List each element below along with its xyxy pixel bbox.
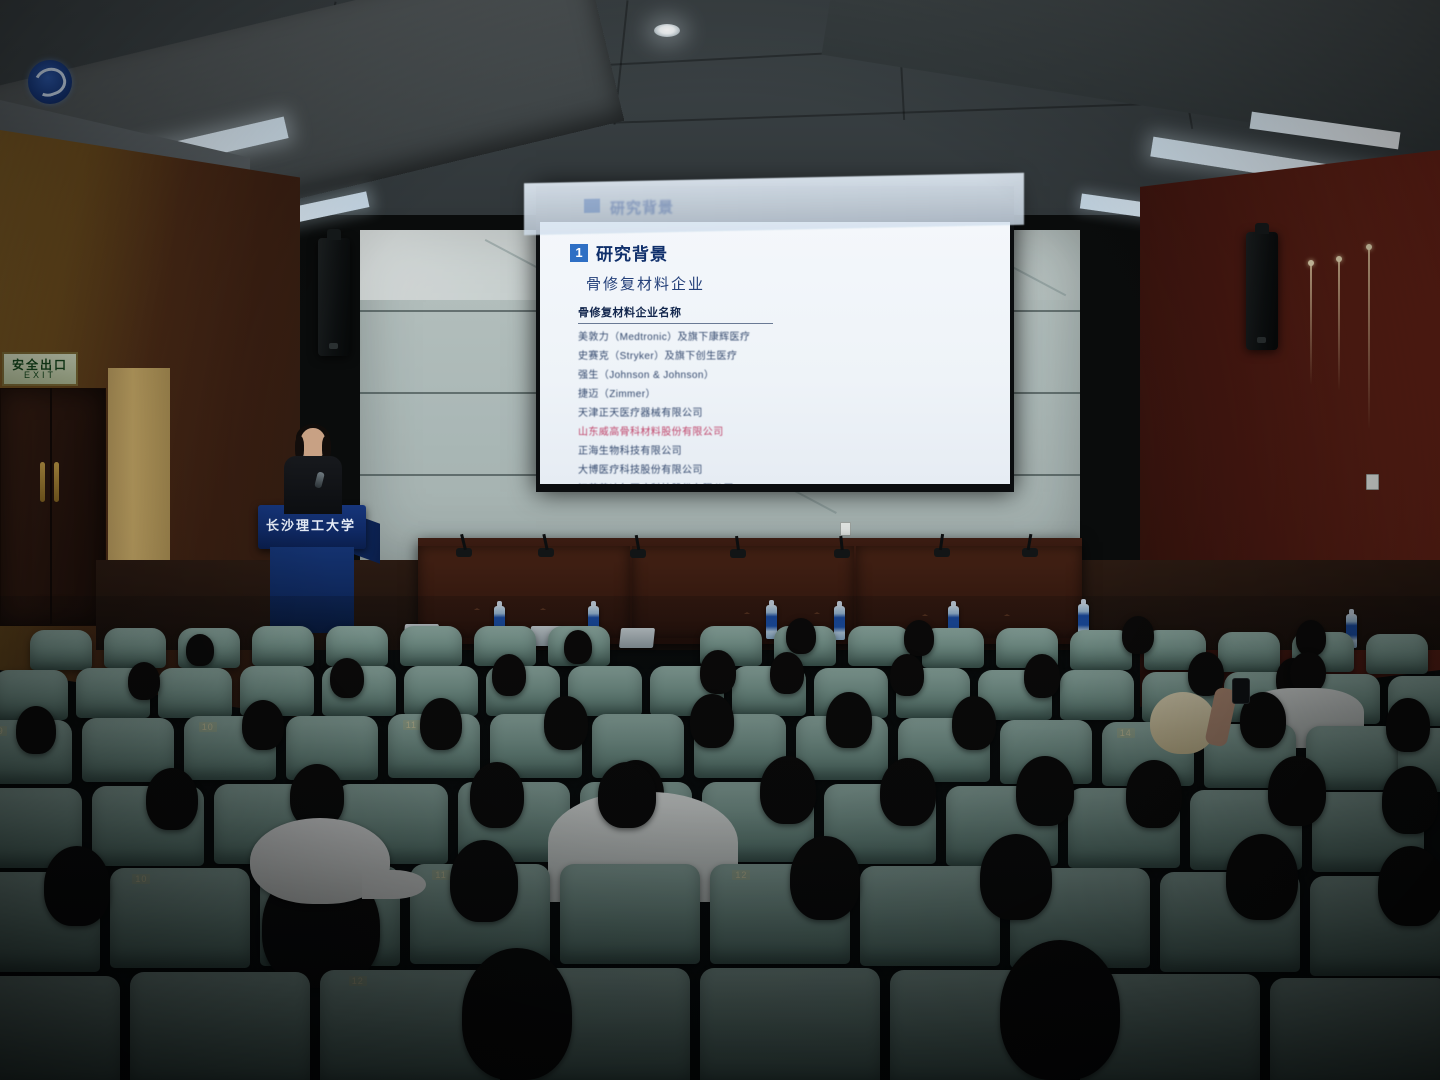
table-row: 强生（Johnson & Johnson） xyxy=(578,362,773,381)
seat[interactable]: 10 xyxy=(110,868,250,968)
hanging-mic-wire xyxy=(1310,264,1312,384)
seat-number: 9 xyxy=(0,726,7,736)
seat[interactable] xyxy=(326,626,388,666)
audience-head xyxy=(564,630,592,664)
white-baseball-cap xyxy=(250,818,390,904)
audience-head xyxy=(980,834,1052,920)
audience-head xyxy=(826,692,872,748)
audience-head xyxy=(330,658,364,698)
seat[interactable] xyxy=(1060,670,1134,720)
audience-head xyxy=(1016,756,1074,826)
seat[interactable]: 11 xyxy=(0,976,120,1080)
projection-screen: 1 研究背景 骨修复材料企业 骨修复材料企业名称 美敦力（Medtronic）及… xyxy=(540,222,1010,484)
seat-number: 12 xyxy=(732,870,750,880)
seat-number: 14 xyxy=(1117,728,1135,738)
table-column-header: 骨修复材料企业名称 xyxy=(578,304,773,324)
exit-sign-chinese: 安全出口 xyxy=(12,359,68,371)
audience-head xyxy=(450,840,518,922)
audience-head xyxy=(420,698,462,750)
audience-head xyxy=(44,846,110,926)
seat[interactable] xyxy=(700,968,880,1080)
slide-section-title: 研究背景 xyxy=(596,240,668,265)
audience-head xyxy=(598,762,656,828)
seat[interactable] xyxy=(560,864,700,964)
presenter xyxy=(282,428,344,514)
table-row: 史赛克（Stryker）及旗下创生医疗 xyxy=(578,343,773,362)
audience-head xyxy=(790,836,860,920)
slide-company-table: 骨修复材料企业名称 美敦力（Medtronic）及旗下康辉医疗 史赛克（Stry… xyxy=(578,304,773,484)
screen-glare-ghost-text: 研究背景 xyxy=(610,196,674,218)
audience-head xyxy=(700,650,736,694)
audience-head xyxy=(786,618,816,654)
exit-sign-english: EXIT xyxy=(24,371,56,380)
table-microphone xyxy=(834,549,850,558)
audience-head xyxy=(1382,766,1438,834)
ceiling-downlight xyxy=(654,24,680,37)
audience-head xyxy=(242,700,284,750)
seat[interactable] xyxy=(1270,978,1440,1080)
seat-number: 10 xyxy=(132,874,150,884)
seat[interactable] xyxy=(252,626,314,666)
audience-head xyxy=(146,768,198,830)
hanging-mic-head-icon xyxy=(1366,244,1372,250)
beige-hood-cap xyxy=(1150,692,1216,754)
seat-number: 10 xyxy=(199,722,217,732)
seat[interactable] xyxy=(104,628,166,668)
slide-section-number: 1 xyxy=(570,244,588,262)
table-row: 江苏艾迪尔医疗科技股份有限公司 xyxy=(578,476,773,484)
podium-institution-label: 长沙理工大学 xyxy=(266,515,356,534)
hanging-mic-wire xyxy=(1338,260,1340,390)
table-row: 捷迈（Zimmer） xyxy=(578,381,773,400)
seat[interactable] xyxy=(158,668,232,718)
university-emblem-icon xyxy=(28,60,72,104)
seat[interactable] xyxy=(400,626,462,666)
door-handle-icon[interactable] xyxy=(40,462,45,502)
audience-head xyxy=(1024,654,1060,698)
audience-head xyxy=(1296,620,1326,656)
exit-door[interactable] xyxy=(0,388,106,626)
audience-head xyxy=(1386,698,1430,752)
table-microphone xyxy=(1022,548,1038,557)
audience-head xyxy=(492,654,526,696)
hanging-mic-head-icon xyxy=(1308,260,1314,266)
smartphone[interactable] xyxy=(1232,678,1250,704)
audience-head xyxy=(470,762,524,828)
audience-head xyxy=(1000,940,1120,1080)
door-center-seam xyxy=(50,388,52,624)
audience-head xyxy=(16,706,56,754)
seat[interactable] xyxy=(860,866,1000,966)
table-microphone xyxy=(730,549,746,558)
wall-speaker-icon xyxy=(318,238,350,356)
audience-head xyxy=(544,696,588,750)
lecture-hall-photo: 安全出口 EXIT 1 研究背景 骨修复材料企业 xyxy=(0,0,1440,1080)
audience-seating: 9 10 11 12 14 xyxy=(0,596,1440,1080)
table-microphone xyxy=(630,549,646,558)
audience-head xyxy=(1122,616,1154,654)
audience-head xyxy=(128,662,160,700)
audience-head xyxy=(462,948,572,1080)
wall-speaker-icon xyxy=(1246,232,1278,350)
audience-head xyxy=(770,652,804,694)
seat-number: 11 xyxy=(403,720,420,730)
audience-head xyxy=(1126,760,1182,828)
table-row: 美敦力（Medtronic）及旗下康辉医疗 xyxy=(578,324,773,343)
audience-head xyxy=(890,654,924,696)
table-row: 大博医疗科技股份有限公司 xyxy=(578,457,773,476)
audience-head xyxy=(690,694,734,748)
audience-head xyxy=(904,620,934,656)
audience-head xyxy=(186,634,214,666)
light-switch[interactable] xyxy=(1366,474,1379,490)
seat[interactable] xyxy=(1366,634,1428,674)
table-row: 天津正天医疗器械有限公司 xyxy=(578,400,773,419)
slide-section-heading: 1 研究背景 xyxy=(570,240,988,265)
exit-sign: 安全出口 EXIT xyxy=(2,352,78,386)
seat[interactable] xyxy=(30,630,92,670)
audience-head xyxy=(880,758,936,826)
seat[interactable] xyxy=(1218,632,1280,672)
audience-head xyxy=(760,756,816,824)
seat-number: 12 xyxy=(349,976,367,986)
audience-head xyxy=(952,696,996,750)
hanging-mic-head-icon xyxy=(1336,256,1342,262)
table-row: 正海生物科技有限公司 xyxy=(578,438,773,457)
seat-number: 11 xyxy=(432,870,449,880)
audience-head xyxy=(1268,756,1326,826)
audience-head xyxy=(1378,846,1440,926)
light-switch[interactable] xyxy=(840,522,851,536)
seat[interactable] xyxy=(130,972,310,1080)
slide-subtitle: 骨修复材料企业 xyxy=(586,273,988,294)
screen-glare-band: 研究背景 xyxy=(524,173,1024,235)
table-row-highlighted: 山东威高骨科材料股份有限公司 xyxy=(578,419,773,438)
table-microphone xyxy=(934,548,950,557)
door-handle-icon[interactable] xyxy=(54,462,59,502)
hanging-mic-wire xyxy=(1368,248,1370,428)
audience-head xyxy=(1226,834,1298,920)
